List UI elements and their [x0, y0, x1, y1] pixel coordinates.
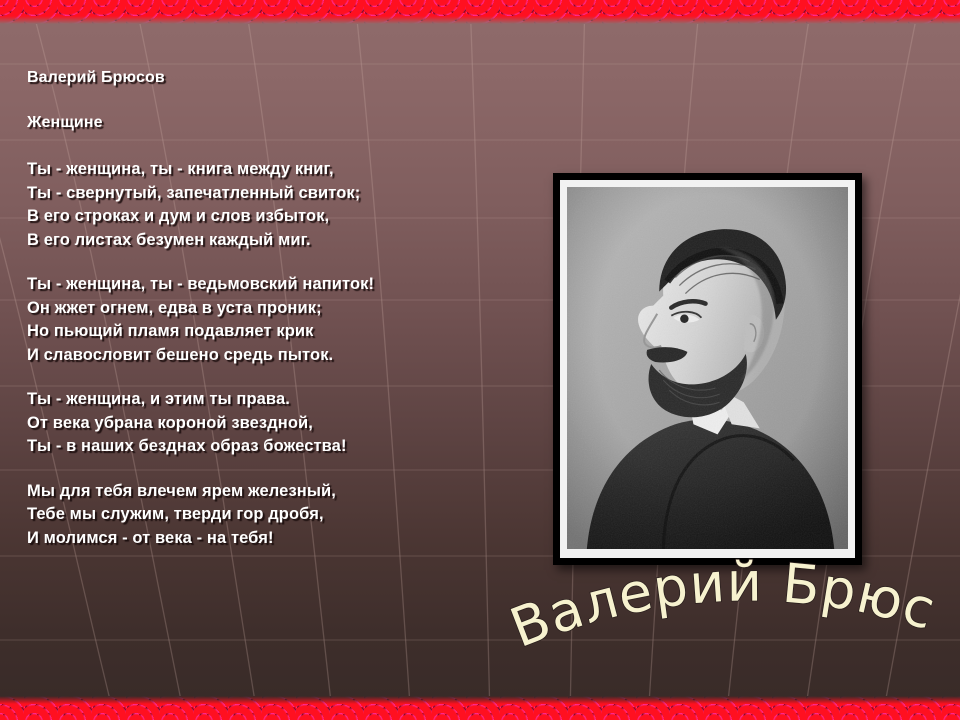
poem-line: Ты - женщина, ты - книга между книг,: [27, 158, 537, 182]
top-decorative-border: [0, 0, 960, 24]
poem-line: Ты - женщина, и этим ты права.: [27, 388, 537, 412]
poem-line: В его строках и дум и слов избыток,: [27, 205, 537, 229]
page-title: Валерий Брюсов: [27, 68, 537, 87]
poem-line: От века убрана короной звездной,: [27, 412, 537, 436]
presentation-slide: Валерий Брюсов Женщине Ты - женщина, ты …: [0, 0, 960, 720]
poem-text-block: Валерий Брюсов Женщине Ты - женщина, ты …: [27, 68, 537, 550]
bottom-border-fade: [0, 696, 960, 704]
poem-line: Ты - свернутый, запечатленный свиток;: [27, 182, 537, 206]
poem-stanza: Мы для тебя влечем ярем железный, Тебе м…: [27, 480, 537, 551]
poem-stanza: Ты - женщина, и этим ты права. От века у…: [27, 388, 537, 459]
poem-line: Мы для тебя влечем ярем железный,: [27, 480, 537, 504]
poem-line: И славословит бешено средь пыток.: [27, 344, 537, 368]
wordart-author-name: Валерий Брюсов: [512, 570, 922, 660]
poem-line: И молимся - от века - на тебя!: [27, 527, 537, 551]
portrait-frame: [553, 173, 862, 565]
poem-line: Он жжет огнем, едва в уста проник;: [27, 297, 537, 321]
poem-line: Ты - в наших безднах образ божества!: [27, 435, 537, 459]
portrait-photo-bryusov: [567, 187, 848, 549]
poem-line: Ты - женщина, ты - ведьмовский напиток!: [27, 273, 537, 297]
bottom-decorative-border: [0, 696, 960, 720]
poem-line: В его листах безумен каждый миг.: [27, 229, 537, 253]
poem-stanza: Ты - женщина, ты - ведьмовский напиток! …: [27, 273, 537, 367]
poem-line: Но пьющий пламя подавляет крик: [27, 320, 537, 344]
poem-title: Женщине: [27, 113, 537, 132]
poem-stanza: Ты - женщина, ты - книга между книг, Ты …: [27, 158, 537, 252]
portrait-mat: [560, 180, 855, 558]
top-border-fade: [0, 16, 960, 24]
poem-line: Тебе мы служим, тверди гор дробя,: [27, 503, 537, 527]
